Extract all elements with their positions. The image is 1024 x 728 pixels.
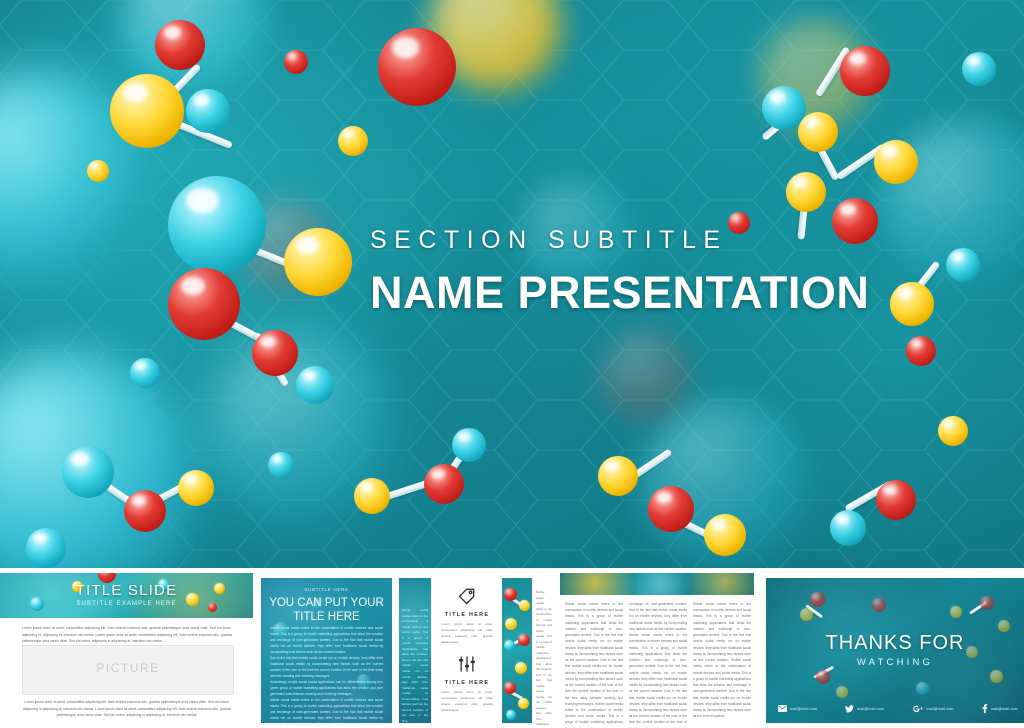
atom-cyan [186, 89, 230, 133]
atom-red [252, 330, 298, 376]
atom-red [518, 634, 530, 646]
atom-red [980, 596, 994, 610]
atom-yellow [786, 172, 826, 212]
picture-placeholder[interactable]: PICTURE [22, 645, 234, 695]
atom-cyan [452, 428, 486, 462]
icon-slide-left-panel: Mobile social media refers to the combin… [399, 578, 431, 723]
icon-slide-center-panel: TITLE HERE Lorem ipsum dolor sit amet, c… [435, 578, 499, 723]
atom-red [840, 46, 890, 96]
atom-red [155, 20, 205, 70]
hero-slide: SECTION SUBTITLE NAME PRESENTATION [0, 0, 1024, 568]
icon-slide-right-text: Mobile social media refers to the combin… [536, 590, 552, 728]
slide-thumbnail-strip: TITLE SLIDE SUBTITLE EXAMPLE HERE Lorem … [0, 573, 1024, 728]
atom-red [424, 464, 464, 504]
content-slide-paragraph: Mobile social media refers to the combin… [270, 626, 383, 656]
text-column: Mobile social media refers to the combin… [693, 601, 751, 719]
social-label-twitter: mail@mail.com [857, 707, 884, 711]
thumbnail-icon-slide[interactable]: Mobile social media refers to the combin… [399, 573, 553, 728]
atom-cyan [962, 52, 996, 86]
hero-title: NAME PRESENTATION [370, 267, 910, 319]
presentation-template-preview: SECTION SUBTITLE NAME PRESENTATION TITLE… [0, 0, 1024, 728]
atom-red [284, 50, 308, 74]
atom-cyan [168, 176, 266, 274]
atom-cyan [268, 452, 294, 478]
atom-yellow [110, 74, 184, 148]
content-slide-paragraph: Accordingly, mobile social media applica… [270, 680, 383, 698]
atom-cyan [62, 446, 114, 498]
text-column: exchange of user-generated content. Due … [629, 601, 687, 728]
atom-yellow [950, 606, 962, 618]
atom-yellow [519, 600, 530, 611]
atom-yellow [518, 698, 529, 709]
atom-red [648, 486, 694, 532]
atom-yellow [998, 620, 1010, 632]
atom-red [906, 336, 936, 366]
atom-red [168, 268, 240, 340]
atom-yellow [800, 608, 813, 621]
icon-slide-item-title: TITLE HERE [435, 612, 499, 618]
thumbnail-thanks-slide[interactable]: THANKS FOR WATCHING mail@mail.com mail@m… [762, 573, 1024, 728]
atom-red [810, 592, 825, 607]
title-slide-title: TITLE SLIDE [0, 582, 253, 599]
thanks-slide-subtitle: WATCHING [766, 657, 1024, 668]
atom-cyan [296, 366, 334, 404]
atom-cyan [946, 248, 980, 282]
atom-yellow [798, 112, 838, 152]
social-label-google-plus: mail@mail.com [927, 707, 954, 711]
social-link-facebook[interactable]: mail@mail.com [982, 704, 1018, 713]
atom-cyan [26, 528, 66, 568]
hero-text-block: SECTION SUBTITLE NAME PRESENTATION [370, 226, 910, 319]
atom-cyan [504, 640, 515, 651]
social-links-row: mail@mail.com mail@mail.com [778, 704, 1018, 713]
icon-slide-molecule-image [502, 578, 532, 723]
icon-slide-left-text: Mobile social media refers to the combin… [402, 608, 428, 723]
thumbnail-content-slide[interactable]: SUBTITLE HERE YOU CAN PUT YOUR TITLE HER… [258, 573, 395, 728]
icon-slide-item-text: Lorem ipsum dolor sit amet, consectetur … [441, 690, 493, 714]
atom-red [876, 480, 916, 520]
thanks-slide-body: THANKS FOR WATCHING mail@mail.com mail@m… [766, 578, 1024, 723]
atom-yellow [836, 686, 848, 698]
social-link-twitter[interactable]: mail@mail.com [845, 705, 884, 713]
content-slide-subtitle: SUBTITLE HERE [261, 587, 392, 592]
bokeh-sphere [600, 330, 690, 420]
atom-red [816, 670, 830, 684]
title-slide-paragraph-top: Lorem ipsum dolor sit amet, consectetur … [22, 625, 232, 645]
thumbnail-text-columns-slide[interactable]: Mobile social media refers to the combin… [557, 573, 757, 728]
thumbnail-title-slide[interactable]: TITLE SLIDE SUBTITLE EXAMPLE HERE Lorem … [0, 573, 253, 728]
atom-cyan [830, 510, 866, 546]
content-slide-body: SUBTITLE HERE YOU CAN PUT YOUR TITLE HER… [261, 578, 392, 723]
envelope-icon [778, 705, 787, 712]
atom-yellow [938, 416, 968, 446]
title-slide-header-image: TITLE SLIDE SUBTITLE EXAMPLE HERE [0, 573, 253, 618]
text-columns-header-image [560, 573, 754, 595]
content-slide-title: YOU CAN PUT YOUR TITLE HERE [269, 596, 384, 624]
atom-yellow [354, 478, 390, 514]
atom-red [872, 598, 886, 612]
title-slide-paragraph-bottom: Lorem ipsum dolor sit amet, consectetur … [22, 699, 232, 719]
icon-slide-item-title: TITLE HERE [435, 680, 499, 686]
atom-cyan [506, 710, 516, 720]
atom-yellow [284, 228, 352, 296]
content-slide-paragraph: Mobile social media refers to the combin… [270, 698, 383, 723]
social-label-facebook: mail@mail.com [991, 707, 1018, 711]
hero-subtitle: SECTION SUBTITLE [370, 226, 910, 255]
google-plus-icon [913, 705, 924, 713]
atom-yellow [505, 618, 517, 630]
atom-yellow [990, 670, 1003, 683]
facebook-icon [982, 704, 988, 713]
atom-yellow [598, 456, 638, 496]
atom-cyan [916, 682, 929, 695]
icon-slide-right-panel: Mobile social media refers to the combin… [535, 578, 553, 723]
sliders-icon [435, 654, 499, 679]
twitter-icon [845, 705, 854, 713]
atom-yellow [178, 470, 214, 506]
atom-red [124, 490, 166, 532]
picture-placeholder-label: PICTURE [23, 661, 233, 675]
icon-slide-item-text: Lorem ipsum dolor sit amet, consectetur … [441, 622, 493, 646]
atom-yellow [874, 140, 918, 184]
atom-cyan [130, 358, 160, 388]
title-slide-subtitle: SUBTITLE EXAMPLE HERE [0, 601, 253, 607]
atom-yellow [87, 160, 109, 182]
atom-yellow [338, 126, 368, 156]
content-slide-paragraph: Due to the fact that mobile social media… [270, 656, 383, 680]
atom-red [504, 682, 516, 694]
thanks-slide-title: THANKS FOR [766, 632, 1024, 655]
social-link-email[interactable]: mail@mail.com [778, 705, 817, 712]
atom-red [504, 588, 517, 601]
social-link-google-plus[interactable]: mail@mail.com [913, 705, 954, 713]
atom-red [378, 28, 456, 106]
atom-yellow [704, 514, 746, 556]
text-column: Mobile social media refers to the combin… [565, 601, 623, 728]
social-label-email: mail@mail.com [790, 707, 817, 711]
tag-icon [435, 586, 499, 611]
atom-yellow [515, 662, 527, 674]
